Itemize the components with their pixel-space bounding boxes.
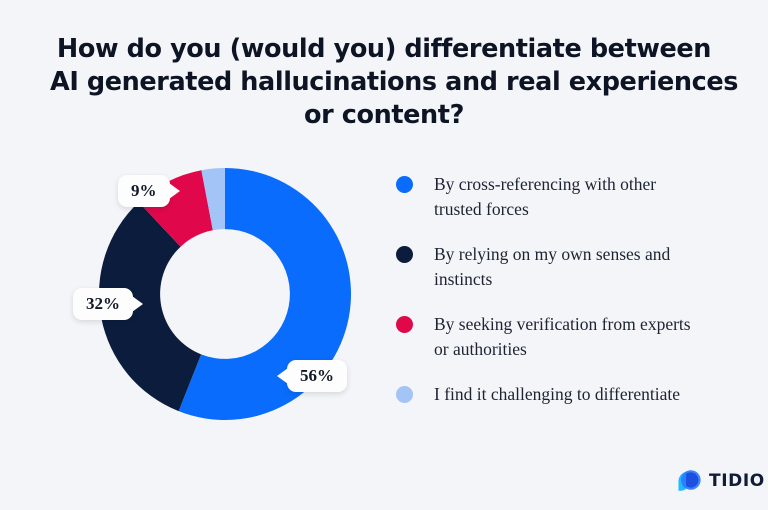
legend-item-label: By seeking verification from experts or … bbox=[434, 312, 696, 362]
legend-item-label: By relying on my own senses and instinct… bbox=[434, 242, 696, 292]
slice-value-callout-9: 9% bbox=[118, 175, 170, 207]
legend-dot-icon bbox=[396, 176, 413, 193]
legend-item-label: I find it challenging to differentiate bbox=[434, 382, 680, 407]
callout-tip-icon bbox=[132, 296, 143, 312]
slice-value-callout-56: 56% bbox=[287, 360, 347, 392]
callout-tip-icon bbox=[277, 368, 288, 384]
title-line-3: or content? bbox=[50, 99, 718, 132]
tidio-logo-text: TIDIO bbox=[709, 473, 765, 490]
title-line-1: How do you (would you) differentiate bet… bbox=[50, 33, 718, 66]
callout-value: 9% bbox=[131, 181, 157, 200]
title-line-2: AI generated hallucinations and real exp… bbox=[50, 66, 718, 99]
infographic-page: How do you (would you) differentiate bet… bbox=[0, 0, 768, 510]
legend-item-expert-verification: By seeking verification from experts or … bbox=[396, 312, 726, 362]
callout-tip-icon bbox=[169, 183, 180, 199]
legend-item-own-senses: By relying on my own senses and instinct… bbox=[396, 242, 726, 292]
callout-value: 32% bbox=[86, 294, 120, 313]
tidio-logo-mark-icon bbox=[676, 468, 703, 494]
legend-dot-icon bbox=[396, 246, 413, 263]
legend-dot-icon bbox=[396, 386, 413, 403]
legend-item-label: By cross-referencing with other trusted … bbox=[434, 172, 696, 222]
chart-legend: By cross-referencing with other trusted … bbox=[396, 172, 726, 427]
legend-item-cross-referencing: By cross-referencing with other trusted … bbox=[396, 172, 726, 222]
legend-dot-icon bbox=[396, 316, 413, 333]
page-title: How do you (would you) differentiate bet… bbox=[50, 33, 718, 132]
tidio-logo: TIDIO bbox=[676, 468, 765, 494]
slice-value-callout-32: 32% bbox=[73, 288, 133, 320]
legend-item-challenging: I find it challenging to differentiate bbox=[396, 382, 726, 407]
callout-value: 56% bbox=[300, 366, 334, 385]
